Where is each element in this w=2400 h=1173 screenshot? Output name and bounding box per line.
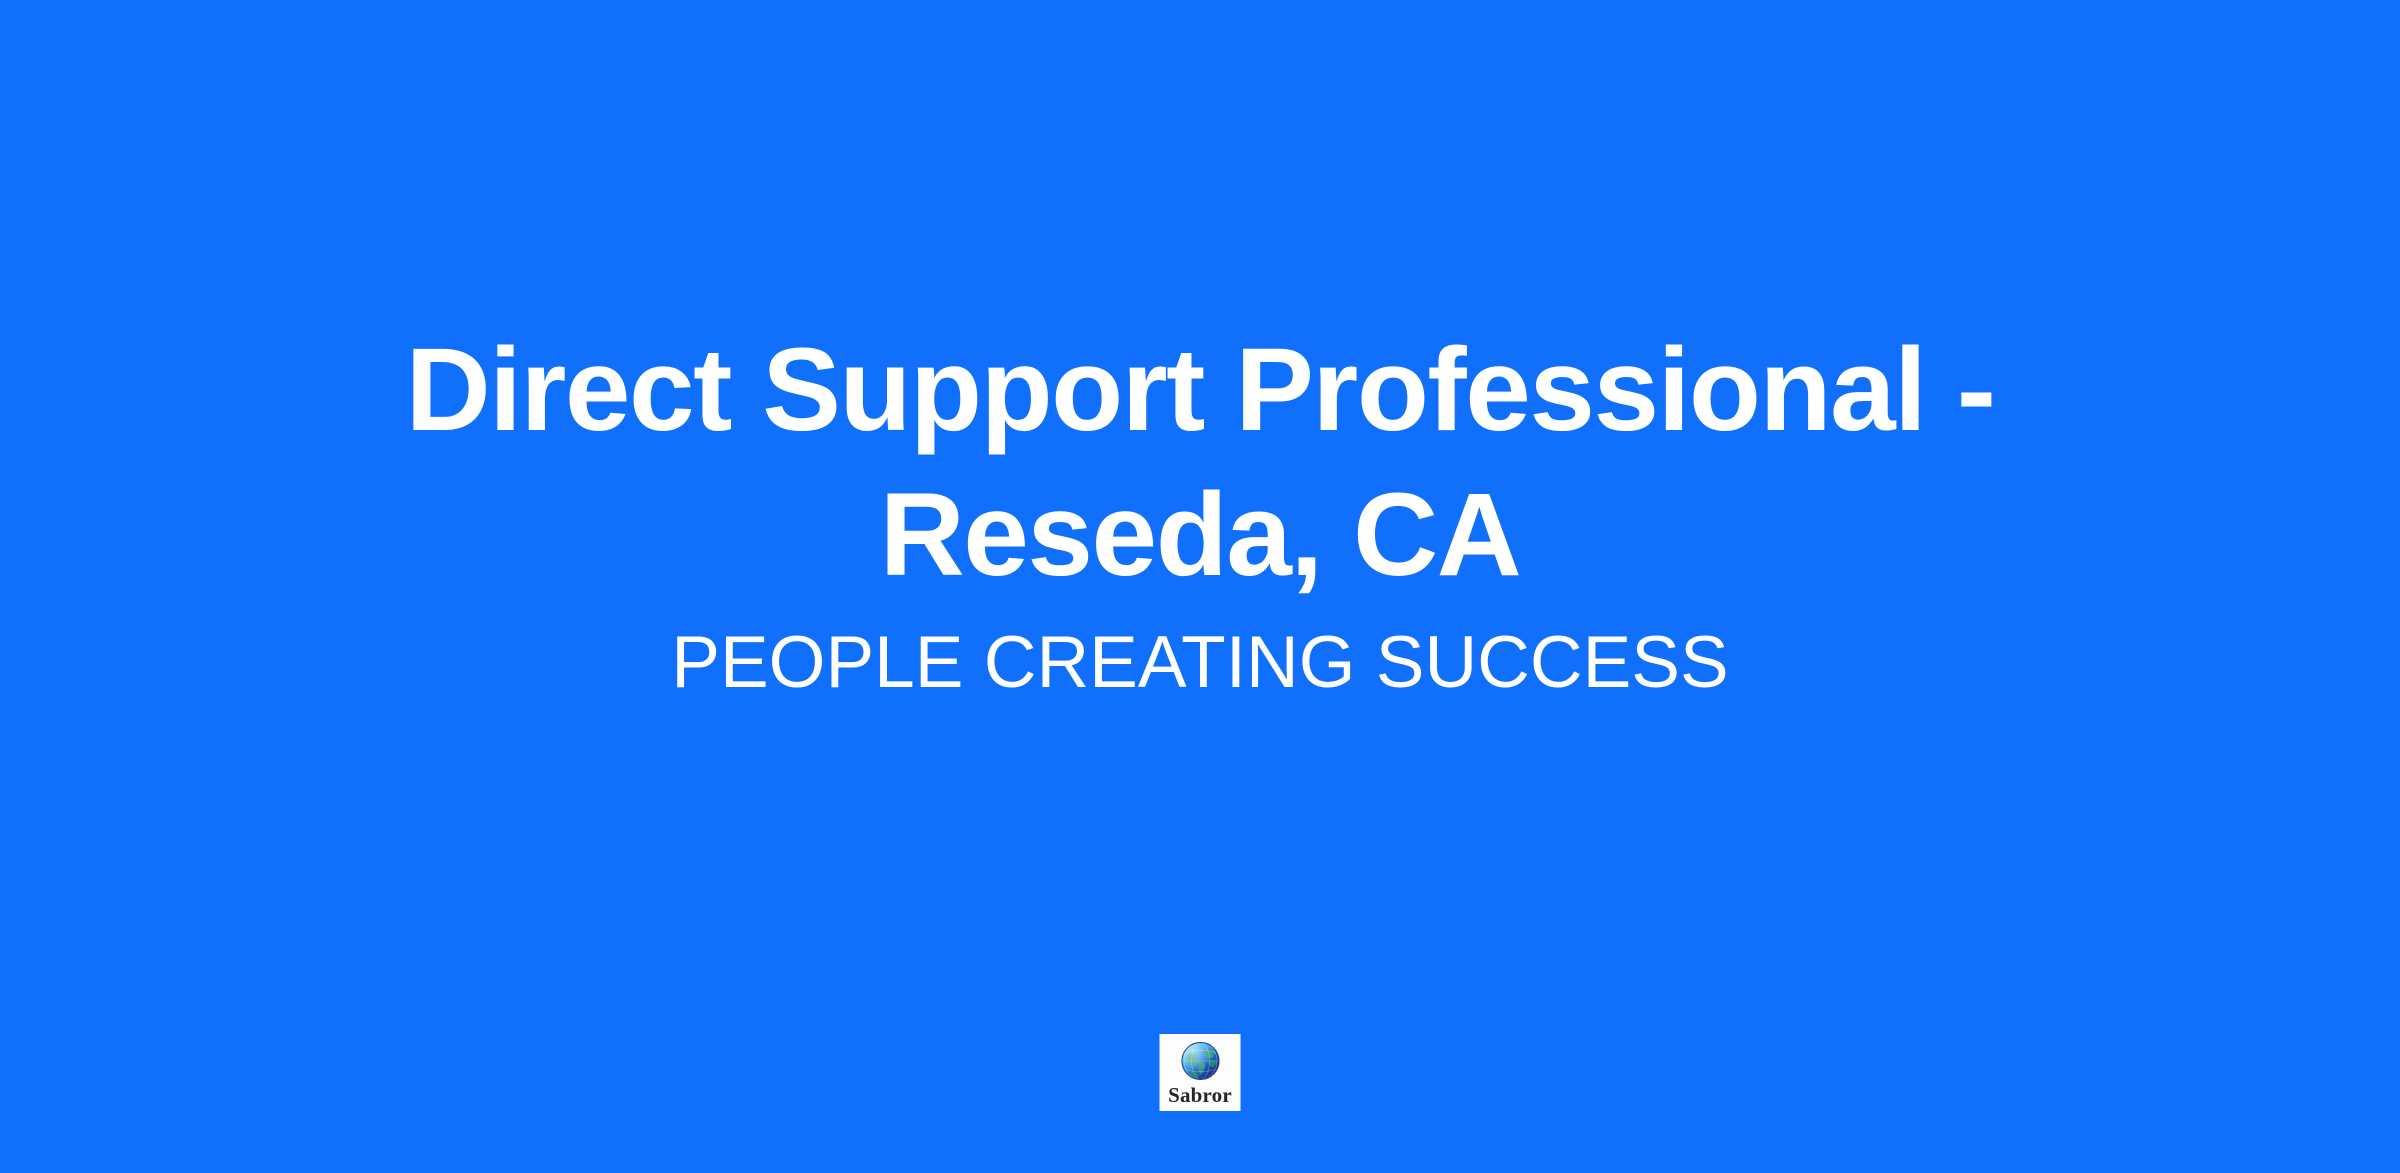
job-share-card: Direct Support Professional - Reseda, CA… xyxy=(0,0,2400,1173)
globe-icon xyxy=(1178,1039,1222,1083)
logo-wordmark: Sabror xyxy=(1168,1084,1232,1106)
job-text-block: Direct Support Professional - Reseda, CA… xyxy=(0,318,2400,706)
page-title: Direct Support Professional - Reseda, CA xyxy=(400,318,2000,608)
company-name: PEOPLE CREATING SUCCESS xyxy=(671,620,1728,706)
company-logo: Sabror xyxy=(1160,1034,1241,1111)
